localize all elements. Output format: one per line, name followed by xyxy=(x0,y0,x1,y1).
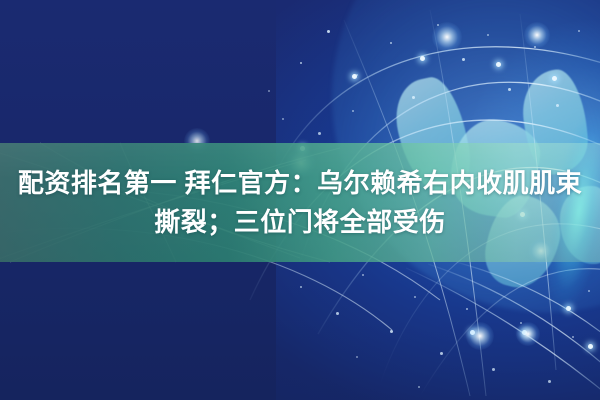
particle-dot xyxy=(572,336,574,338)
particle-dot xyxy=(356,356,358,358)
headline-text-block: 配资排名第一 拜仁官方：乌尔赖希右内收肌肌束 撕裂；三位门将全部受伤 xyxy=(0,143,600,262)
particle-dot xyxy=(327,30,330,33)
particle-dot xyxy=(318,132,321,135)
light-flare xyxy=(516,322,540,346)
network-node xyxy=(588,344,593,349)
light-flare xyxy=(432,22,462,52)
particle-dot xyxy=(492,368,495,371)
particle-dot xyxy=(300,286,302,288)
particle-dot xyxy=(352,110,354,112)
particle-dot xyxy=(390,330,393,333)
particle-dot xyxy=(418,386,420,388)
headline-line-1: 配资排名第一 拜仁官方：乌尔赖希右内收肌肌束 xyxy=(18,168,582,199)
network-node xyxy=(352,74,357,79)
particle-dot xyxy=(462,58,465,61)
particle-dot xyxy=(268,90,270,92)
particle-dot xyxy=(362,274,364,276)
particle-dot xyxy=(390,42,392,44)
particle-dot xyxy=(556,104,559,107)
headline-line-2: 撕裂；三位门将全部受伤 xyxy=(154,207,446,238)
particle-dot xyxy=(412,96,415,99)
light-flare xyxy=(524,22,550,48)
news-banner-image: 配资排名第一 拜仁官方：乌尔赖希右内收肌肌束 撕裂；三位门将全部受伤 xyxy=(0,0,600,400)
particle-dot xyxy=(508,88,511,91)
particle-dot xyxy=(300,62,302,64)
particle-dot xyxy=(578,30,580,32)
network-node xyxy=(420,56,425,61)
network-node xyxy=(496,62,501,67)
particle-dot xyxy=(548,380,551,383)
light-flare xyxy=(466,322,494,350)
particle-dot xyxy=(414,296,416,298)
particle-dot xyxy=(336,312,339,315)
particle-dot xyxy=(466,308,468,310)
particle-dot xyxy=(440,352,443,355)
particle-dot xyxy=(282,118,284,120)
particle-dot xyxy=(487,34,489,36)
network-node xyxy=(552,76,557,81)
